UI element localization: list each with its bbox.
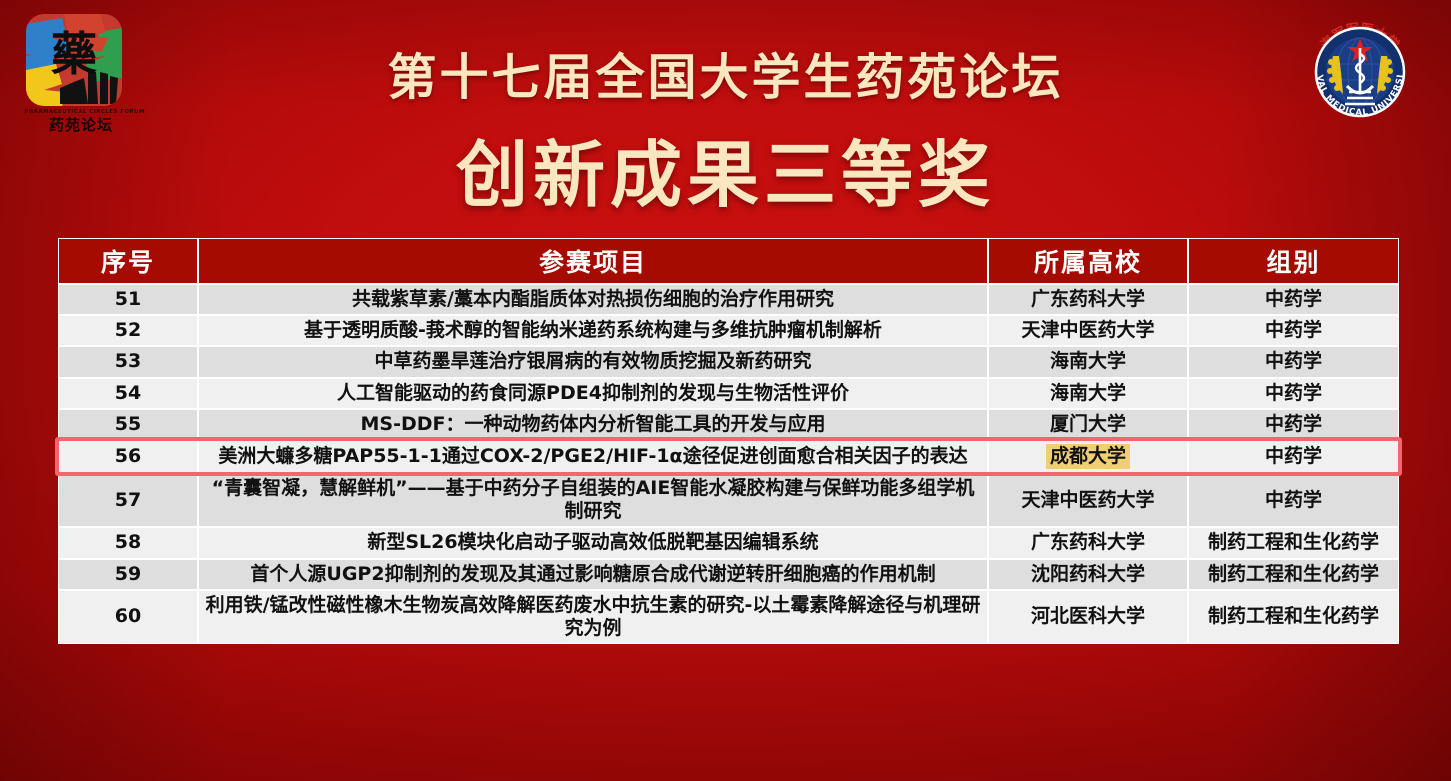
table-row: 57“青囊智凝，慧解鲜机”——基于中药分子自组装的AIE智能水凝胶构建与保鲜功能… [58,473,1399,527]
forum-logo-chinese: 药苑论坛 [22,118,140,133]
table-row: 53中草药墨旱莲治疗银屑病的有效物质挖掘及新药研究海南大学中药学 [58,346,1399,377]
cell-group: 中药学 [1188,378,1399,409]
cell-project: 新型SL26模块化启动子驱动高效低脱靶基因编辑系统 [198,527,988,558]
university-seal: 海军军医大学 [1299,8,1421,130]
forum-logo-english: PHARMACEUTICAL CIRCLES FORUM [24,110,137,116]
cell-group: 中药学 [1188,409,1399,440]
cell-no: 54 [58,378,198,409]
cell-no: 51 [58,284,198,315]
table-row: 55MS-DDF：一种动物药体内分析智能工具的开发与应用厦门大学中药学 [58,409,1399,440]
award-table-container: 序号 参赛项目 所属高校 组别 51共载紫草素/藁本内酯脂质体对热损伤细胞的治疗… [58,238,1399,644]
cell-group: 中药学 [1188,440,1399,473]
highlighted-text: 成都大学 [1046,444,1130,469]
cell-group: 中药学 [1188,315,1399,346]
cell-project: 人工智能驱动的药食同源PDE4抑制剂的发现与生物活性评价 [198,378,988,409]
cell-project: “青囊智凝，慧解鲜机”——基于中药分子自组装的AIE智能水凝胶构建与保鲜功能多组… [198,473,988,527]
forum-logo-caption: PHARMACEUTICAL CIRCLES FORUM 药苑论坛 [22,110,140,133]
cell-university: 成都大学 [988,440,1188,473]
column-header-group: 组别 [1188,238,1399,284]
table-row: 56美洲大蠊多糖PAP55-1-1通过COX-2/PGE2/HIF-1α途径促进… [58,440,1399,473]
cell-university: 沈阳药科大学 [988,559,1188,590]
cell-project: 基于透明质酸-莪术醇的智能纳米递药系统构建与多维抗肿瘤机制解析 [198,315,988,346]
cell-university: 海南大学 [988,378,1188,409]
cell-no: 59 [58,559,198,590]
table-row: 58新型SL26模块化启动子驱动高效低脱靶基因编辑系统广东药科大学制药工程和生化… [58,527,1399,558]
table-row: 54人工智能驱动的药食同源PDE4抑制剂的发现与生物活性评价海南大学中药学 [58,378,1399,409]
cell-no: 58 [58,527,198,558]
cell-project: 首个人源UGP2抑制剂的发现及其通过影响糖原合成代谢逆转肝细胞癌的作用机制 [198,559,988,590]
cell-no: 55 [58,409,198,440]
cell-group: 制药工程和生化药学 [1188,527,1399,558]
cell-no: 57 [58,473,198,527]
cell-group: 中药学 [1188,346,1399,377]
cell-no: 52 [58,315,198,346]
naval-medical-university-seal-icon: 海军军医大学 [1299,8,1421,130]
cell-university: 海南大学 [988,346,1188,377]
cell-group: 中药学 [1188,284,1399,315]
cell-group: 中药学 [1188,473,1399,527]
column-header-university: 所属高校 [988,238,1188,284]
cell-project: 利用铁/锰改性磁性橡木生物炭高效降解医药废水中抗生素的研究-以土霉素降解途径与机… [198,590,988,644]
table-row: 51共载紫草素/藁本内酯脂质体对热损伤细胞的治疗作用研究广东药科大学中药学 [58,284,1399,315]
cell-project: 共载紫草素/藁本内酯脂质体对热损伤细胞的治疗作用研究 [198,284,988,315]
cell-project: 美洲大蠊多糖PAP55-1-1通过COX-2/PGE2/HIF-1α途径促进创面… [198,440,988,473]
cell-university: 河北医科大学 [988,590,1188,644]
award-slide: 藥 PHARMACEUTICAL CIRCLES FORUM 药苑论坛 海军军医… [0,0,1451,781]
forum-logo-mark: 藥 [22,12,132,112]
cell-university: 天津中医药大学 [988,473,1188,527]
cell-group: 制药工程和生化药学 [1188,590,1399,644]
table-row: 59首个人源UGP2抑制剂的发现及其通过影响糖原合成代谢逆转肝细胞癌的作用机制沈… [58,559,1399,590]
cell-no: 56 [58,440,198,473]
award-table: 序号 参赛项目 所属高校 组别 51共载紫草素/藁本内酯脂质体对热损伤细胞的治疗… [58,238,1399,644]
cell-project: 中草药墨旱莲治疗银屑病的有效物质挖掘及新药研究 [198,346,988,377]
table-header-row: 序号 参赛项目 所属高校 组别 [58,238,1399,284]
cell-group: 制药工程和生化药学 [1188,559,1399,590]
forum-logo: 藥 PHARMACEUTICAL CIRCLES FORUM 药苑论坛 [22,12,146,140]
column-header-no: 序号 [58,238,198,284]
svg-text:藥: 藥 [51,27,97,81]
column-header-project: 参赛项目 [198,238,988,284]
cell-university: 广东药科大学 [988,527,1188,558]
table-header: 序号 参赛项目 所属高校 组别 [58,238,1399,284]
table-row: 52基于透明质酸-莪术醇的智能纳米递药系统构建与多维抗肿瘤机制解析天津中医药大学… [58,315,1399,346]
table-body: 51共载紫草素/藁本内酯脂质体对热损伤细胞的治疗作用研究广东药科大学中药学52基… [58,284,1399,644]
table-row: 60利用铁/锰改性磁性橡木生物炭高效降解医药废水中抗生素的研究-以土霉素降解途径… [58,590,1399,644]
cell-university: 天津中医药大学 [988,315,1188,346]
cell-no: 60 [58,590,198,644]
cell-no: 53 [58,346,198,377]
cell-university: 广东药科大学 [988,284,1188,315]
cell-project: MS-DDF：一种动物药体内分析智能工具的开发与应用 [198,409,988,440]
pharmaceutical-circles-forum-icon: 藥 [22,12,132,112]
forum-title: 第十七届全国大学生药苑论坛 [0,38,1451,109]
cell-university: 厦门大学 [988,409,1188,440]
award-title: 创新成果三等奖 [0,116,1451,221]
